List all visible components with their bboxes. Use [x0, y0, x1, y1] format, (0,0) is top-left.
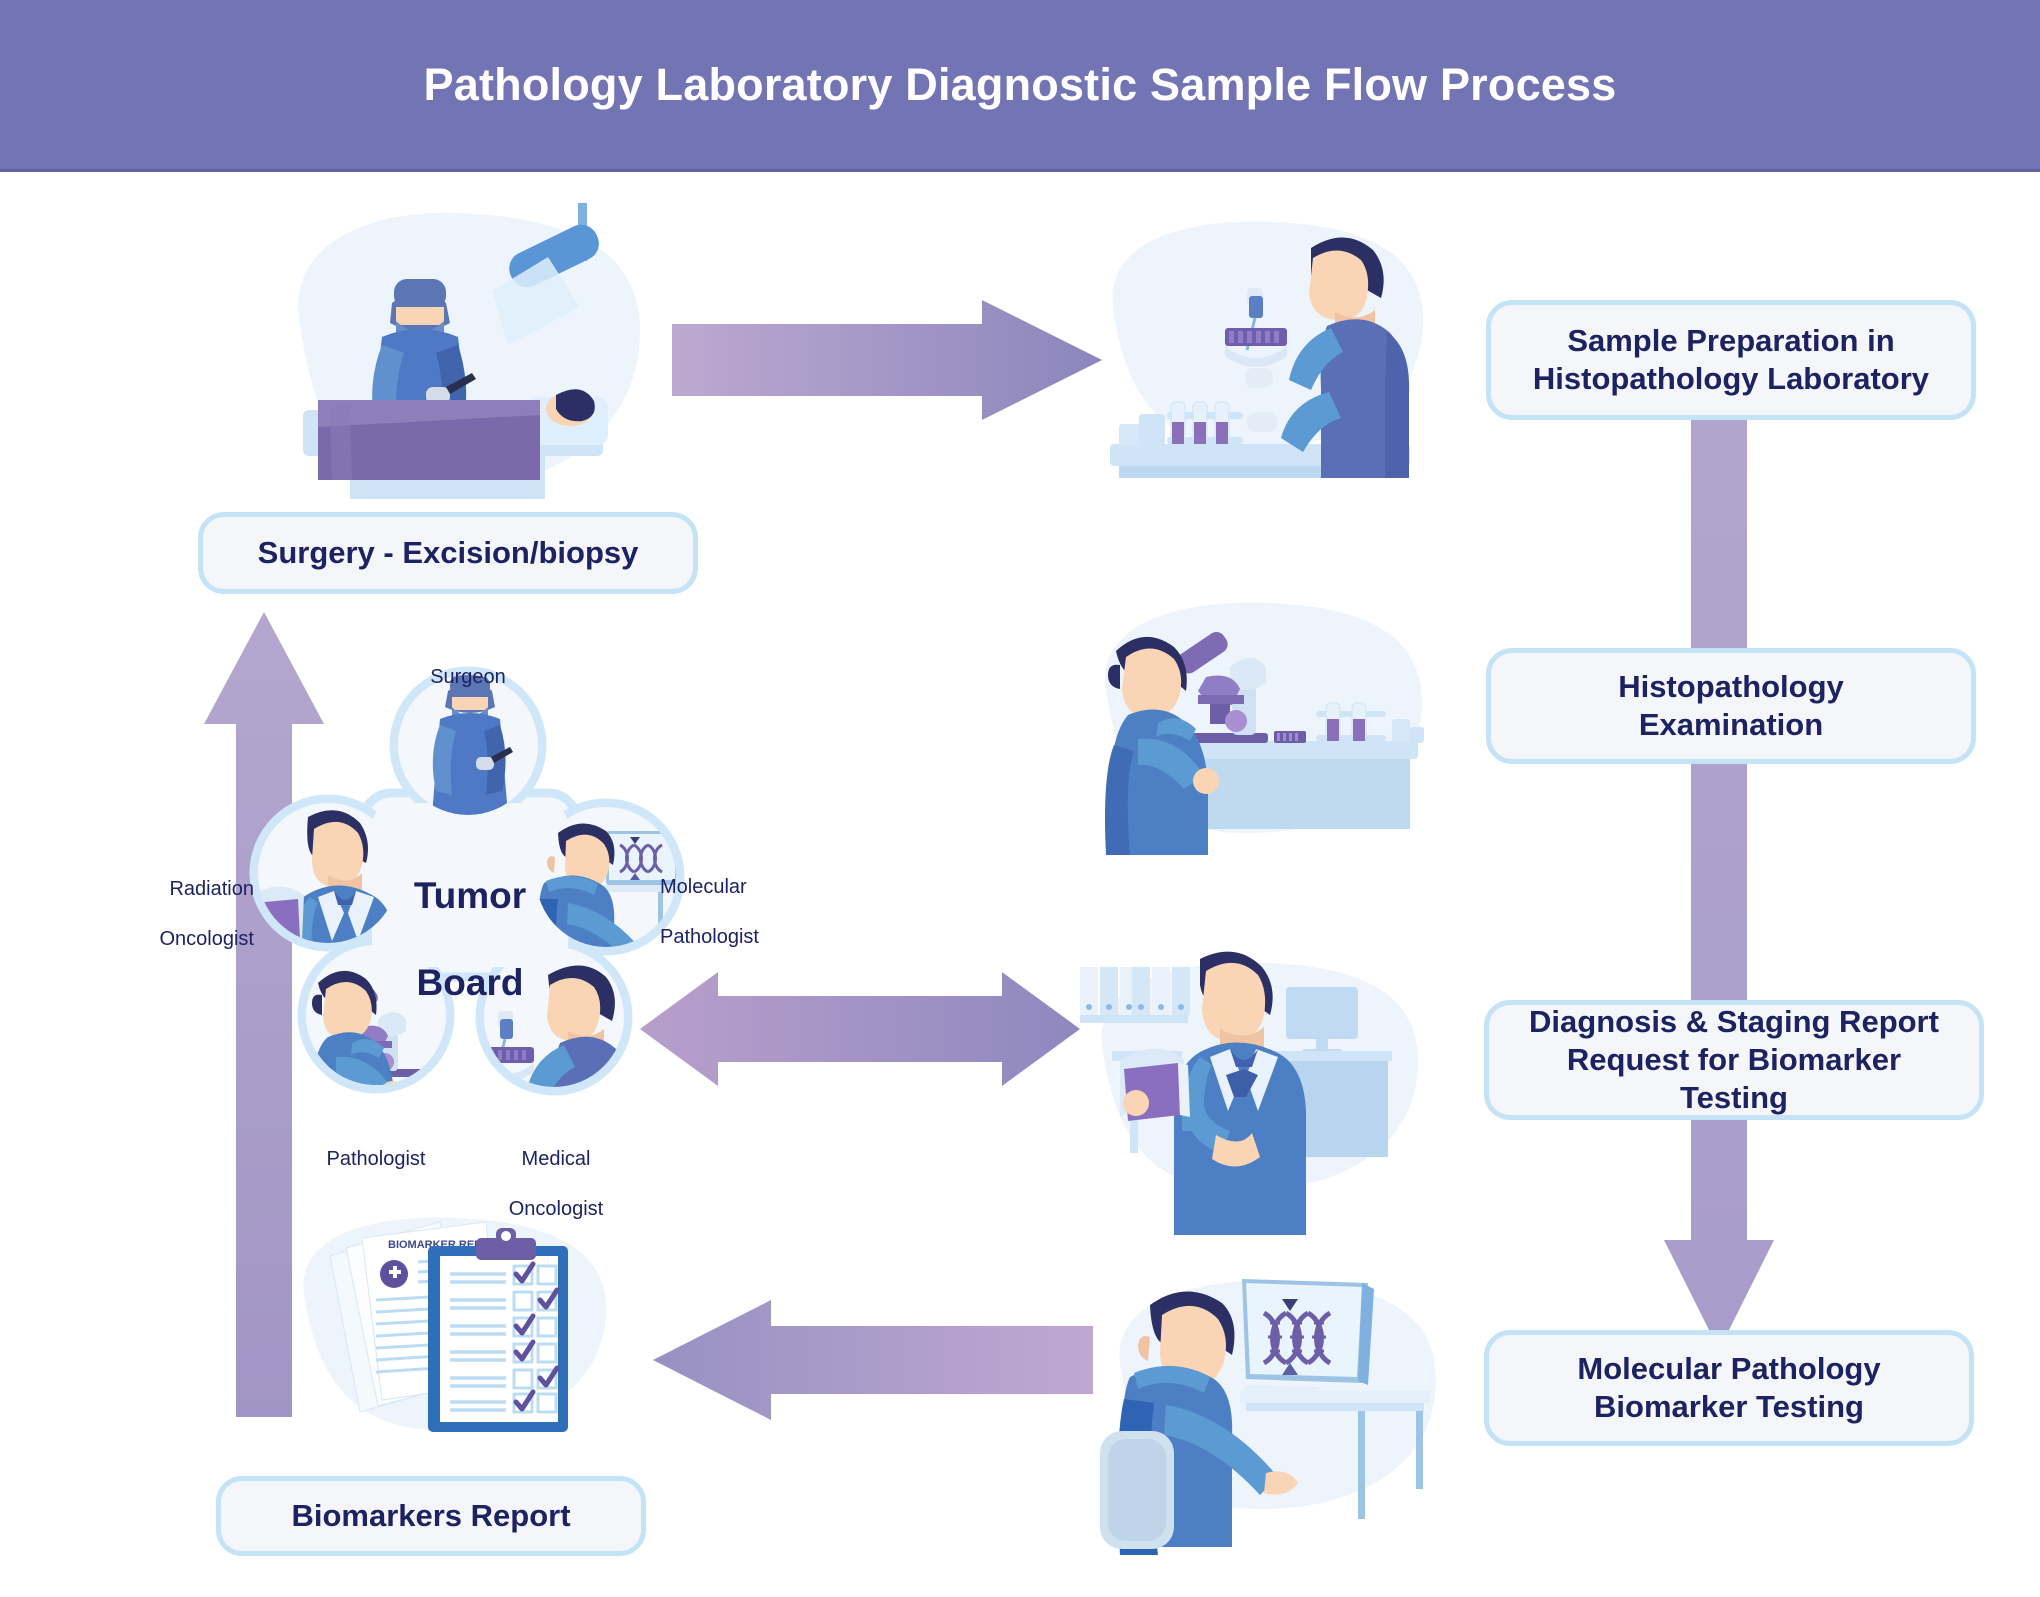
illustration-molecular-dna-workstation	[1100, 1265, 1500, 1555]
role-label-radiation-oncologist-line1: Radiation	[169, 878, 254, 900]
chip-sample-preparation-line2: Histopathology Laboratory	[1533, 360, 1929, 398]
illustration-pathologist-microscope	[1080, 585, 1480, 875]
arrow-molecular-to-biomarkers	[653, 1300, 1093, 1420]
chip-histopathology-line2: Examination	[1639, 706, 1823, 744]
chip-diagnosis-staging-line1: Diagnosis & Staging Report	[1529, 1003, 1939, 1041]
role-label-medical-oncologist-line2: Oncologist	[509, 1198, 604, 1220]
role-label-radiation-oncologist-line2: Oncologist	[160, 928, 255, 950]
role-label-medical-oncologist-line1: Medical	[522, 1148, 591, 1170]
chip-molecular-pathology[interactable]: Molecular Pathology Biomarker Testing	[1484, 1330, 1974, 1446]
chip-sample-preparation[interactable]: Sample Preparation in Histopathology Lab…	[1486, 300, 1976, 420]
chip-diagnosis-staging-line2: Request for Biomarker Testing	[1509, 1041, 1959, 1117]
illustration-surgery-operating-room	[240, 195, 670, 515]
role-label-medical-oncologist: Medical Oncologist	[466, 1122, 646, 1222]
diagram-canvas: Pathology Laboratory Diagnostic Sample F…	[0, 0, 2040, 1597]
chip-sample-preparation-line1: Sample Preparation in	[1567, 322, 1894, 360]
chip-histopathology-line1: Histopathology	[1618, 668, 1844, 706]
chip-molecular-pathology-line2: Biomarker Testing	[1594, 1388, 1864, 1426]
role-label-molecular-pathologist-line1: Molecular	[660, 876, 747, 898]
chip-diagnosis-staging[interactable]: Diagnosis & Staging Report Request for B…	[1484, 1000, 1984, 1120]
role-label-pathologist: Pathologist	[286, 1122, 466, 1172]
arrow-vertical-down-right-column	[1664, 400, 1774, 1350]
chip-surgery-label: Surgery - Excision/biopsy	[258, 534, 639, 572]
chip-molecular-pathology-line1: Molecular Pathology	[1577, 1350, 1880, 1388]
role-label-molecular-pathologist-line2: Pathologist	[660, 926, 759, 948]
header-bar: Pathology Laboratory Diagnostic Sample F…	[0, 0, 2040, 172]
chip-biomarkers-report-label: Biomarkers Report	[291, 1497, 570, 1535]
role-label-surgeon: Surgeon	[378, 640, 558, 690]
tumor-board-title-line2: Board	[417, 962, 524, 1003]
tumor-board-title: Tumor Board	[370, 830, 570, 1005]
chip-biomarkers-report[interactable]: Biomarkers Report	[216, 1476, 646, 1556]
illustration-biomarker-report-clipboard: BIOMARKER REPORT	[290, 1200, 650, 1470]
tumor-board-title-line1: Tumor	[414, 875, 526, 916]
role-label-molecular-pathologist: Molecular Pathologist	[660, 850, 840, 950]
role-label-radiation-oncologist: Radiation Oncologist	[94, 852, 254, 952]
illustration-lab-technician-pipette	[1095, 200, 1475, 490]
arrow-surgery-to-sample-prep	[672, 300, 1102, 420]
chip-histopathology-examination[interactable]: Histopathology Examination	[1486, 648, 1976, 764]
page-title: Pathology Laboratory Diagnostic Sample F…	[424, 59, 1617, 111]
role-label-pathologist-text: Pathologist	[327, 1148, 426, 1170]
illustration-pathologist-with-report	[1080, 945, 1480, 1235]
chip-surgery[interactable]: Surgery - Excision/biopsy	[198, 512, 698, 594]
role-label-surgeon-text: Surgeon	[430, 666, 506, 688]
